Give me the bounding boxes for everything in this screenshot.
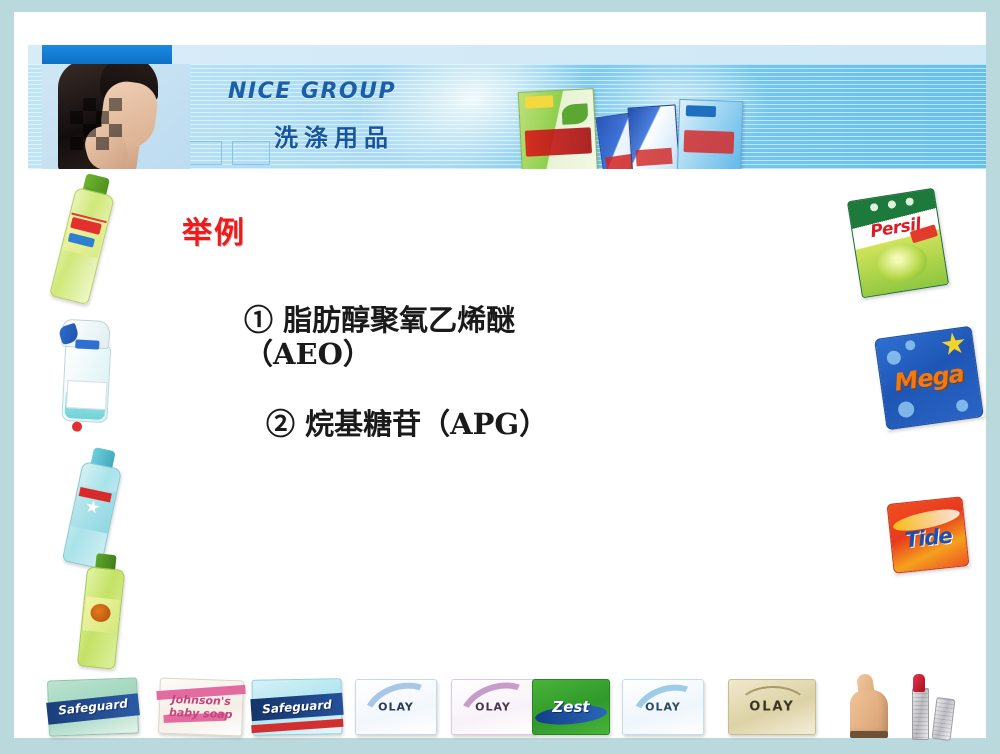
olay-pink-label: OLAY — [452, 701, 534, 714]
product-dish-soap-bottle-green — [49, 187, 115, 305]
slide-canvas: NICE GROUP 洗涤用品 举例 ① 脂肪醇聚氧乙烯醚 （AEO） ② 烷基… — [14, 12, 986, 738]
product-johnsons-baby-soap: Johnson's baby soap — [158, 678, 244, 737]
banner-subtitle: 洗涤用品 — [274, 118, 394, 153]
olay-blue-label: OLAY — [356, 701, 436, 714]
product-olay-soap-pink: OLAY — [451, 679, 535, 735]
header-banner: NICE GROUP 洗涤用品 — [28, 45, 986, 169]
banner-product-pouch-2 — [628, 104, 681, 169]
content-item-1: ① 脂肪醇聚氧乙烯醚 （AEO） — [244, 304, 664, 371]
product-mega-detergent-bag: Mega — [874, 326, 984, 431]
banner-accent-block — [42, 45, 172, 64]
banner-portrait-photo — [42, 64, 190, 169]
page-title: 举例 — [182, 208, 246, 252]
slide-frame: NICE GROUP 洗涤用品 举例 ① 脂肪醇聚氧乙烯醚 （AEO） ② 烷基… — [0, 0, 1000, 750]
banner-product-green-box — [518, 88, 599, 169]
banner-title: NICE GROUP — [228, 79, 396, 104]
content-item-2: ② 烷基糖苷（APG） — [266, 408, 666, 442]
product-safeguard-soap-blue: Safeguard — [252, 678, 343, 736]
product-olay-soap-lightblue: OLAY — [622, 679, 704, 735]
product-safeguard-soap-green: Safeguard — [47, 677, 139, 736]
product-hand-shaped-soap — [848, 674, 890, 736]
zest-label: Zest — [533, 698, 609, 716]
johnsons-label: Johnson's baby soap — [160, 693, 243, 722]
product-bleach-bottle — [62, 461, 122, 569]
olay-lightblue-label: OLAY — [623, 701, 703, 714]
photo-checker-artifact — [70, 98, 122, 150]
product-lipstick — [908, 674, 964, 738]
banner-product-blue-box — [677, 99, 744, 169]
olay-gold-label: OLAY — [729, 700, 815, 715]
product-olay-soap-gold: OLAY — [728, 679, 816, 735]
product-persil-detergent-bag: Persil — [847, 188, 949, 299]
product-spray-cleaner-bottle — [61, 319, 110, 421]
product-tide-detergent-bag: Tide — [887, 496, 970, 574]
product-zest-soap-green: Zest — [532, 679, 610, 735]
product-detergent-bottle-yellow — [77, 566, 125, 669]
product-olay-soap-blue: OLAY — [355, 679, 437, 735]
